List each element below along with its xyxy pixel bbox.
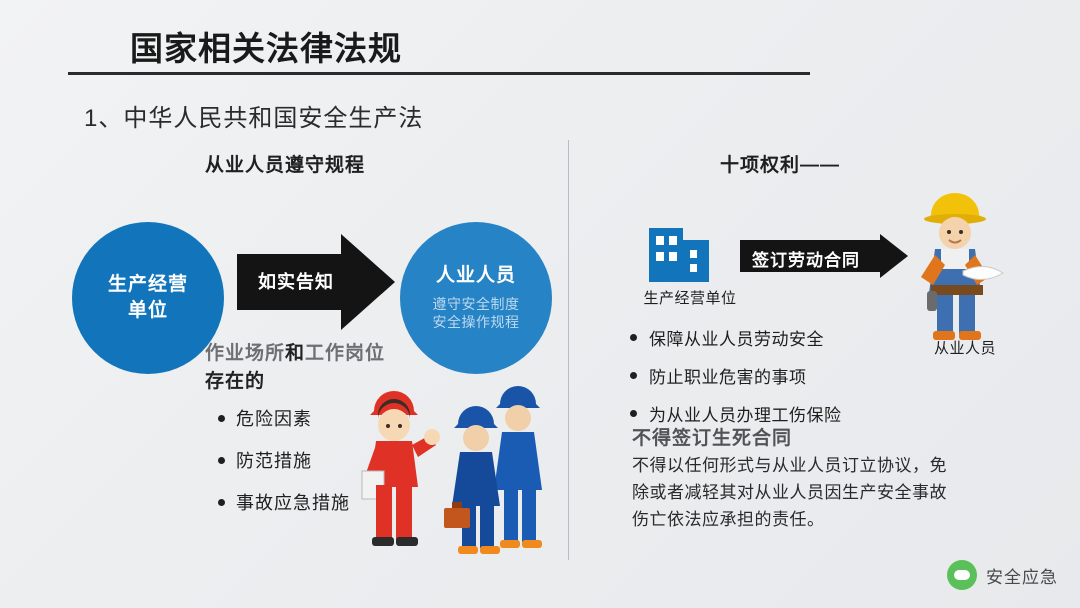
list-item: 防止职业危害的事项 [630,363,842,388]
building-icon [645,214,715,284]
circle-employees-sub1: 遵守安全制度 [433,295,520,313]
page-subtitle: 1、中华人民共和国安全生产法 [84,98,423,133]
left-bullet-list: 危险因素 防范措施 事故应急措施 [218,405,350,531]
circle-producer-line2: 单位 [128,298,168,324]
left-subtext-and: 和 [285,343,305,364]
list-item: 危险因素 [218,405,350,431]
building-caption: 生产经营单位 [620,287,760,308]
circle-employees-sub2: 安全操作规程 [433,313,520,331]
wechat-logo-icon [947,560,977,590]
watermark-label: 安全应急 [986,563,1058,588]
arrow-inform-label: 如实告知 [258,268,334,294]
circle-producer-unit: 生产经营 单位 [72,222,224,374]
notice-title: 不得签订生死合同 [632,423,792,450]
left-subtext-exist: 存在的 [205,371,265,392]
circle-employees-title: 人业人员 [436,264,516,289]
right-bullet-list: 保障从业人员劳动安全 防止职业危害的事项 为从业人员办理工伤保险 [630,325,842,439]
right-bullet-1: 防止职业危害的事项 [649,363,807,388]
watermark: 安全应急 [947,560,1058,590]
bullet-dot-icon [630,372,637,379]
left-bullet-2: 事故应急措施 [236,489,350,515]
notice-body: 不得以任何形式与从业人员订立协议，免除或者减轻其对从业人员因生产安全事故伤亡依法… [632,452,952,534]
bullet-dot-icon [630,334,637,341]
list-item: 防范措施 [218,447,350,473]
arrow-contract-label: 签订劳动合同 [752,246,860,271]
bullet-dot-icon [218,499,225,506]
title-underline [68,72,810,75]
list-item: 保障从业人员劳动安全 [630,325,842,350]
list-item: 事故应急措施 [218,489,350,515]
left-subtext-post: 工作岗位 [305,343,385,364]
worker-blueprint-illustration-icon [905,185,1025,345]
workers-group-illustration-icon [440,382,570,562]
page-title: 国家相关法律法规 [130,22,402,70]
left-bullet-0: 危险因素 [236,405,312,431]
right-bullet-0: 保障从业人员劳动安全 [649,325,824,350]
bullet-dot-icon [218,415,225,422]
left-section-heading: 从业人员遵守规程 [205,150,365,177]
circle-producer-line1: 生产经营 [108,272,188,298]
bullet-dot-icon [218,457,225,464]
worker-caption: 从业人员 [905,337,1025,358]
instructor-illustration-icon [352,385,442,555]
slide-root: 国家相关法律法规 1、中华人民共和国安全生产法 从业人员遵守规程 生产经营 单位… [0,0,1080,608]
right-section-heading: 十项权利—— [720,150,840,177]
bullet-dot-icon [630,410,637,417]
left-subtext-worksite: 作业场所 [205,343,285,364]
left-bullet-1: 防范措施 [236,447,312,473]
